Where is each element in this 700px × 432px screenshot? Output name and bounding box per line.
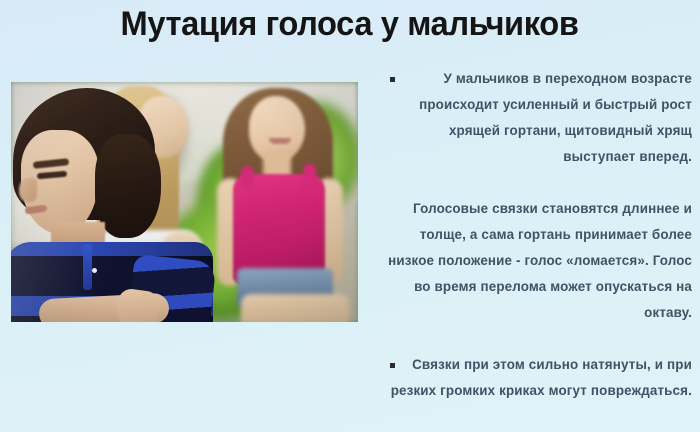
paragraph-1-text: У мальчиков в переходном возрасте происх…: [419, 71, 692, 164]
paragraph-3-text: Связки при этом сильно натянуты, и при р…: [391, 357, 692, 398]
bullet-paragraph-3: Связки при этом сильно натянуты, и при р…: [380, 352, 692, 404]
bullet-point-icon: [390, 77, 395, 82]
paragraph-2-text: Голосовые связки становятся длиннее и то…: [388, 201, 692, 320]
body-text-block: У мальчиков в переходном возрасте происх…: [380, 64, 692, 404]
bullet-point-icon: [390, 363, 395, 368]
title-bar: Мутация голоса у мальчиков: [0, 0, 700, 48]
photo-vignette: [11, 82, 358, 322]
paragraph-2: Голосовые связки становятся длиннее и то…: [380, 196, 692, 326]
slide: Мутация голоса у мальчиков: [0, 0, 700, 432]
page-title: Мутация голоса у мальчиков: [121, 7, 579, 41]
bullet-paragraph-1: У мальчиков в переходном возрасте происх…: [380, 66, 692, 170]
illustration-photo: [11, 82, 358, 322]
